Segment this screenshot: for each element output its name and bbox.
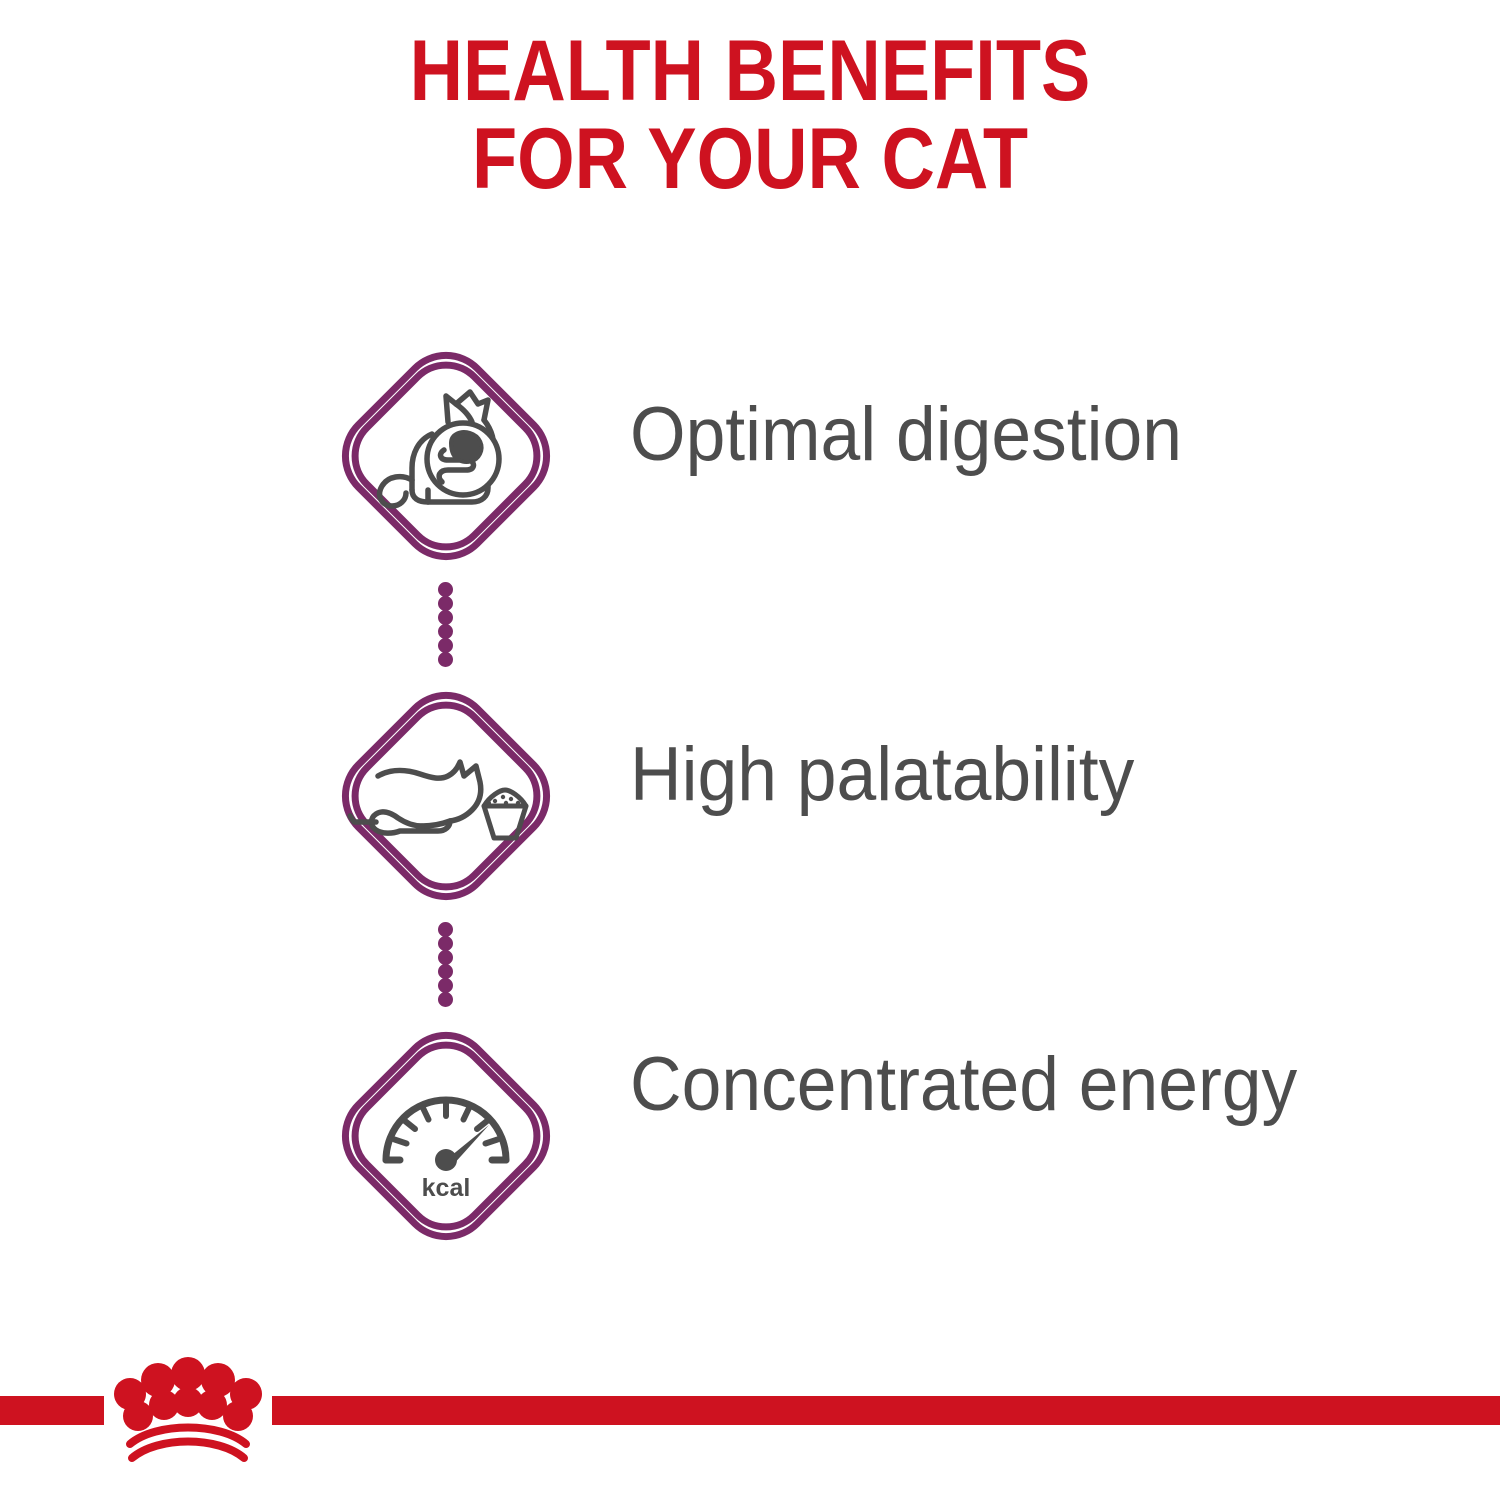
page-title-line-2: FOR YOUR CAT [105,116,1395,204]
royal-canin-crown-logo [100,1352,276,1468]
benefit-label-concentrated-energy: Concentrated energy [630,1042,1354,1129]
footer-bar-left [0,1396,104,1425]
connector-dot [438,950,453,965]
connector-dot [438,582,453,597]
connector-dot [438,936,453,951]
connector-dot [438,596,453,611]
page-title: HEALTH BENEFITS FOR YOUR CAT [105,28,1395,203]
benefit-item-optimal-digestion: Optimal digestion [0,320,1500,660]
connector-dot [438,610,453,625]
kcal-gauge-icon: kcal [320,1010,572,1262]
benefit-item-concentrated-energy: kcal Concentrated energy [0,1000,1500,1340]
connector-dots-2 [438,922,456,1006]
benefit-item-high-palatability: High palatability [0,660,1500,1000]
connector-dot [438,964,453,979]
connector-dot [438,638,453,653]
footer [0,1396,1500,1500]
health-benefits-infographic: HEALTH BENEFITS FOR YOUR CAT [0,0,1500,1500]
page-title-line-1: HEALTH BENEFITS [105,28,1395,116]
cat-digestion-icon [320,330,572,582]
connector-dots-1 [438,582,456,666]
benefits-list: Optimal digestion [0,320,1500,1340]
benefit-label-optimal-digestion: Optimal digestion [630,392,1354,479]
connector-dot [438,624,453,639]
cat-eating-bowl-icon [320,670,572,922]
kcal-caption: kcal [422,1174,471,1202]
benefit-label-high-palatability: High palatability [630,732,1354,819]
connector-dot [438,978,453,993]
footer-bar-right [272,1396,1500,1425]
connector-dot [438,922,453,937]
